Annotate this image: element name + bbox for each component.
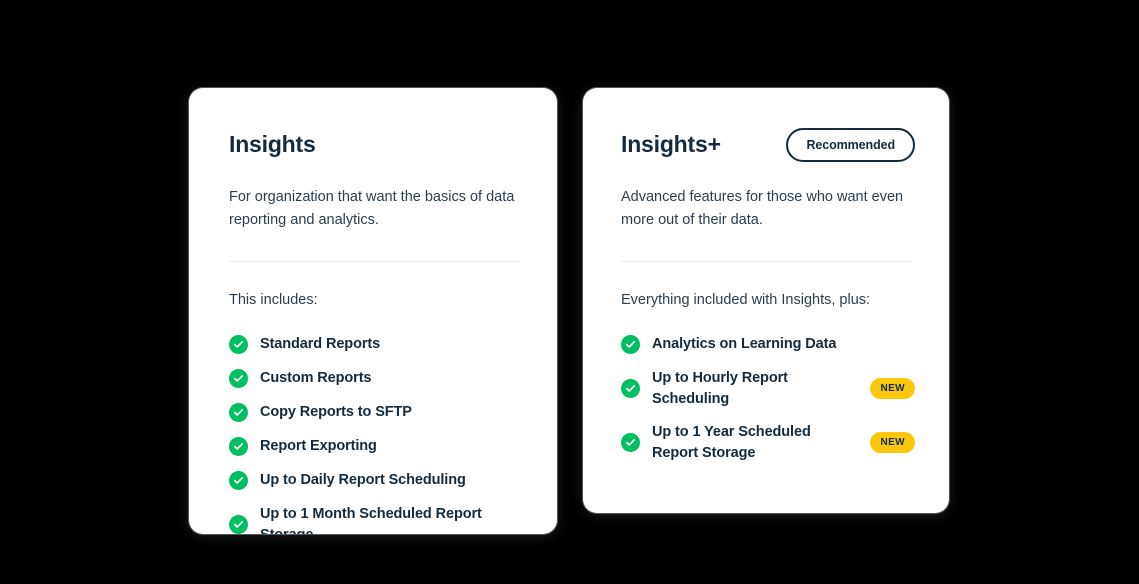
feature-item: Copy Reports to SFTP <box>229 402 523 424</box>
pricing-plans-comparison: Insights For organization that want the … <box>0 0 1139 584</box>
plan-header: Insights+ Recommended <box>621 128 915 162</box>
check-icon <box>229 437 248 456</box>
feature-item: Analytics on Learning Data <box>621 334 915 356</box>
check-icon <box>229 335 248 354</box>
check-icon <box>621 433 640 452</box>
feature-label: Custom Reports <box>260 368 371 389</box>
feature-label: Up to Hourly Report Scheduling <box>652 368 858 410</box>
plan-feature-list: Analytics on Learning Data Up to Hourly … <box>621 334 915 464</box>
check-icon <box>229 369 248 388</box>
check-icon <box>229 403 248 422</box>
feature-item: Up to Hourly Report Scheduling NEW <box>621 368 915 410</box>
feature-label: Report Exporting <box>260 436 377 457</box>
plan-feature-list: Standard Reports Custom Reports Copy Rep… <box>229 334 523 534</box>
plan-includes-label: This includes: <box>229 290 523 312</box>
feature-label: Analytics on Learning Data <box>652 334 836 355</box>
plan-card-insights: Insights For organization that want the … <box>189 88 557 534</box>
recommended-badge[interactable]: Recommended <box>786 128 915 162</box>
feature-label: Copy Reports to SFTP <box>260 402 412 423</box>
section-divider <box>621 261 911 262</box>
feature-label: Up to 1 Month Scheduled Report Storage <box>260 504 523 534</box>
plan-description: For organization that want the basics of… <box>229 186 521 233</box>
plan-title: Insights+ <box>621 132 721 157</box>
feature-item: Up to 1 Year Scheduled Report Storage NE… <box>621 422 915 464</box>
feature-item: Up to Daily Report Scheduling <box>229 470 523 492</box>
new-badge: NEW <box>870 378 915 399</box>
new-badge: NEW <box>870 432 915 453</box>
feature-item: Standard Reports <box>229 334 523 356</box>
feature-label: Up to 1 Year Scheduled Report Storage <box>652 422 838 464</box>
feature-label: Up to Daily Report Scheduling <box>260 470 466 491</box>
plan-description: Advanced features for those who want eve… <box>621 186 913 233</box>
plan-header: Insights <box>229 128 523 162</box>
check-icon <box>229 515 248 534</box>
check-icon <box>229 471 248 490</box>
check-icon <box>621 335 640 354</box>
feature-item: Up to 1 Month Scheduled Report Storage <box>229 504 523 534</box>
feature-item: Custom Reports <box>229 368 523 390</box>
plan-card-insights-plus: Insights+ Recommended Advanced features … <box>583 88 949 513</box>
plan-includes-label: Everything included with Insights, plus: <box>621 290 915 312</box>
check-icon <box>621 379 640 398</box>
feature-label: Standard Reports <box>260 334 380 355</box>
plan-title: Insights <box>229 132 316 157</box>
feature-item: Report Exporting <box>229 436 523 458</box>
section-divider <box>229 261 519 262</box>
